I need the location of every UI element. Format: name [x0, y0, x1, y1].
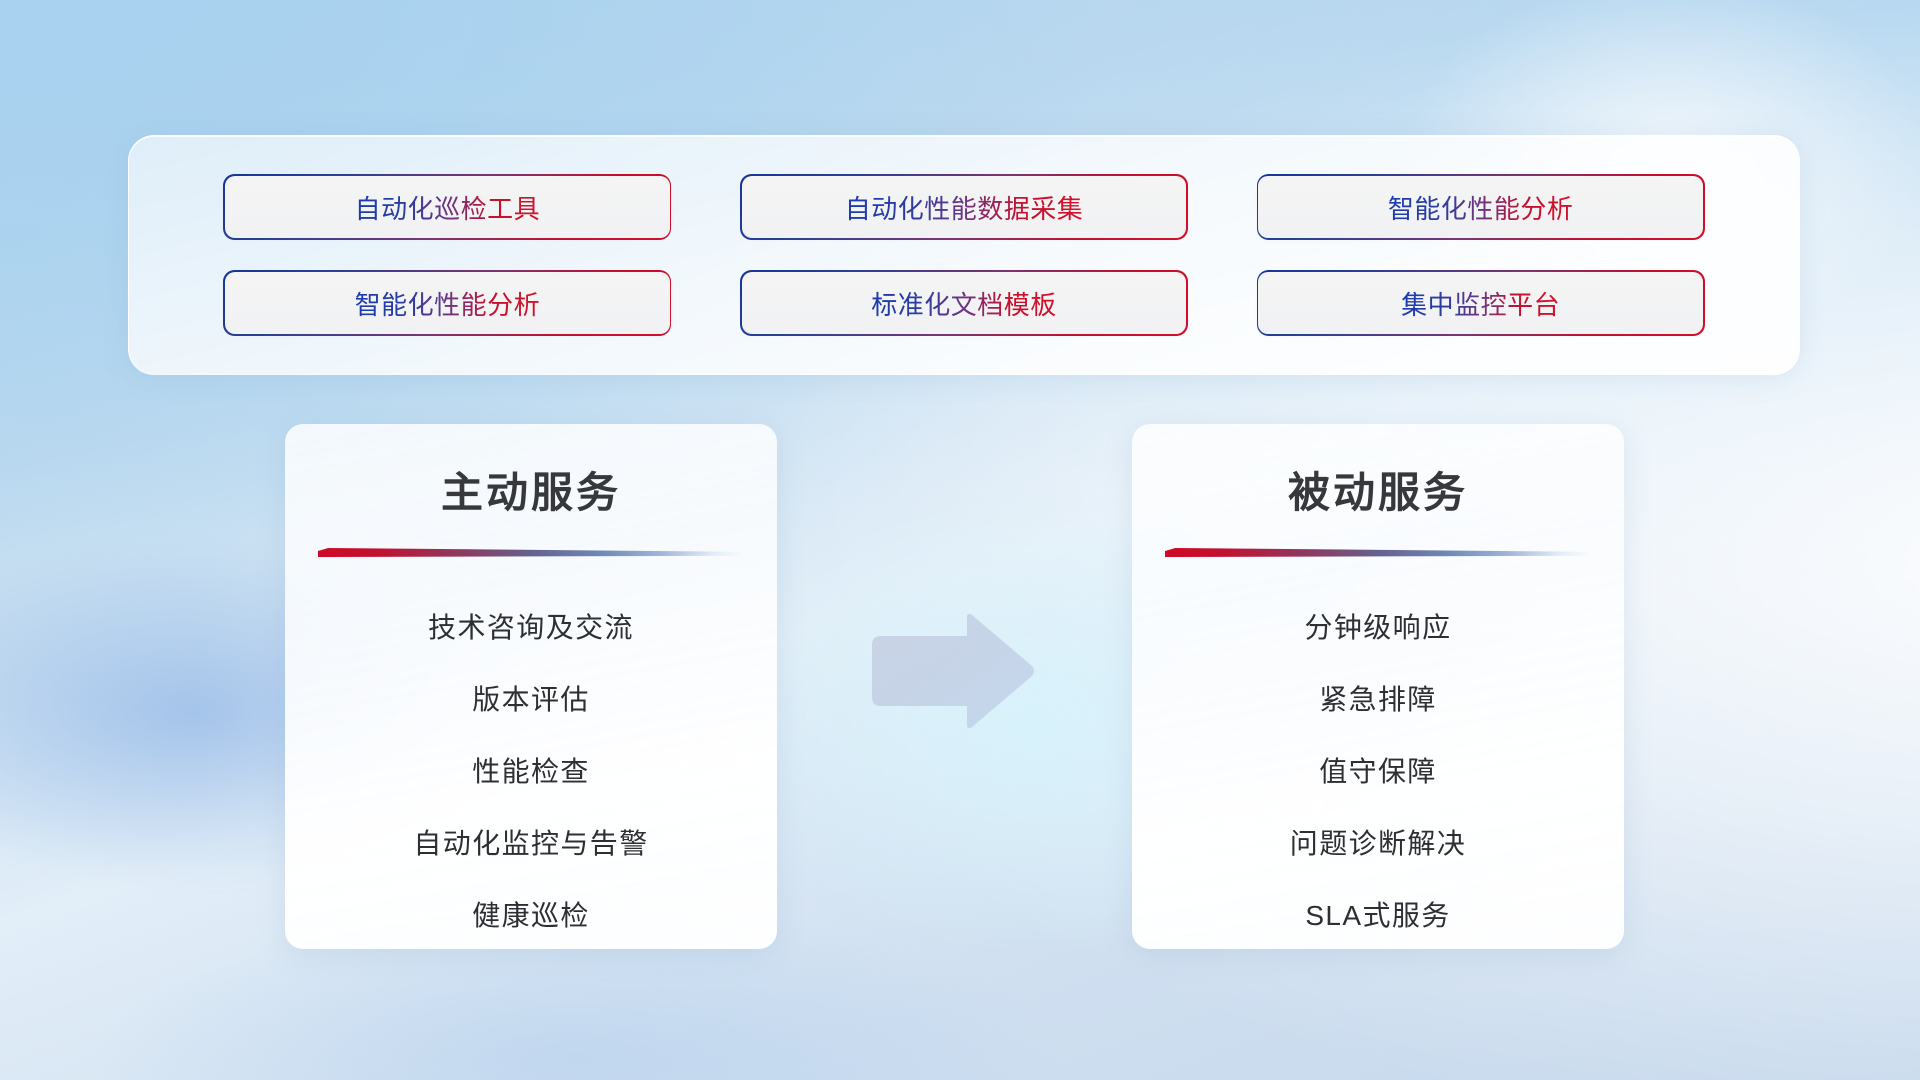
reactive-service-card: 被动服务 分钟级响应 紧急排障 值守保障 问题诊断解决 SLA式服务	[1132, 424, 1624, 949]
capability-pill-label: 标准化文档模板	[871, 285, 1057, 322]
capability-pill-intelligent-performance-analysis[interactable]: 智能化性能分析	[1258, 176, 1703, 238]
capability-pill-label: 集中监控平台	[1401, 285, 1560, 322]
capability-pill-automated-performance-data-collection[interactable]: 自动化性能数据采集	[742, 176, 1187, 238]
capability-pill-centralized-monitoring-platform[interactable]: 集中监控平台	[1258, 272, 1703, 334]
list-item: 值守保障	[1133, 734, 1623, 806]
list-item: 性能检查	[286, 734, 776, 806]
capability-pill-label: 智能化性能分析	[355, 285, 541, 322]
proactive-service-card: 主动服务 技术咨询及交流 版本评估 性能检查 自动化监控与告警 健康巡检	[285, 424, 777, 949]
card-title: 被动服务	[1133, 459, 1623, 520]
capability-row-2: 智能化性能分析 标准化文档模板 集中监控平台	[225, 272, 1703, 334]
list-item: 紧急排障	[1133, 662, 1623, 734]
capability-pill-intelligent-performance-analysis-2[interactable]: 智能化性能分析	[225, 272, 670, 334]
card-list: 分钟级响应 紧急排障 值守保障 问题诊断解决 SLA式服务	[1133, 590, 1623, 949]
list-item: 健康巡检	[286, 878, 776, 949]
card-divider-bar	[318, 548, 744, 557]
card-list: 技术咨询及交流 版本评估 性能检查 自动化监控与告警 健康巡检	[286, 590, 776, 949]
capability-row-1: 自动化巡检工具 自动化性能数据采集 智能化性能分析	[225, 176, 1703, 238]
capability-pill-label: 自动化性能数据采集	[845, 189, 1084, 226]
card-divider	[318, 546, 744, 560]
card-divider	[1165, 546, 1591, 560]
card-divider-bar	[1165, 548, 1591, 557]
list-item: SLA式服务	[1133, 878, 1623, 949]
list-item: 自动化监控与告警	[286, 806, 776, 878]
capability-pill-label: 自动化巡检工具	[355, 189, 541, 226]
list-item: 技术咨询及交流	[286, 590, 776, 662]
arrow-right-icon	[866, 612, 1036, 730]
capability-pill-label: 智能化性能分析	[1388, 189, 1574, 226]
capability-pill-standardized-doc-template[interactable]: 标准化文档模板	[742, 272, 1187, 334]
capability-pill-automated-inspection-tool[interactable]: 自动化巡检工具	[225, 176, 670, 238]
list-item: 分钟级响应	[1133, 590, 1623, 662]
list-item: 版本评估	[286, 662, 776, 734]
card-title: 主动服务	[286, 459, 776, 520]
list-item: 问题诊断解决	[1133, 806, 1623, 878]
capability-panel: 自动化巡检工具 自动化性能数据采集 智能化性能分析 智能化性能分析 标准化文档模…	[128, 135, 1800, 375]
